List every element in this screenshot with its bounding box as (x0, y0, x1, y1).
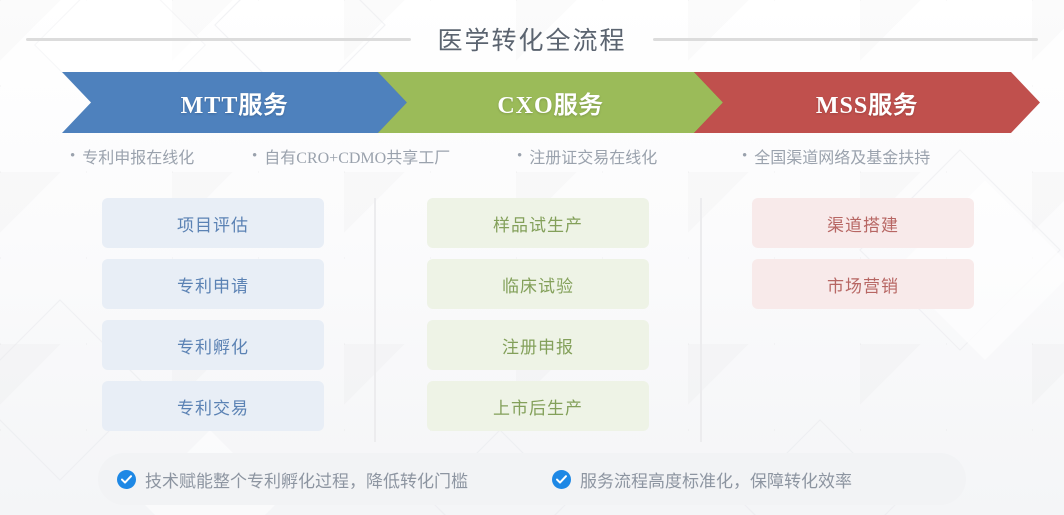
service-card[interactable]: 专利孵化 (102, 320, 324, 370)
service-card[interactable]: 注册申报 (427, 320, 649, 370)
footer-item-0: 技术赋能整个专利孵化过程，降低转化门槛 (117, 467, 468, 492)
footer-item-text-1: 服务流程高度标准化，保障转化效率 (580, 467, 852, 492)
service-card[interactable]: 项目评估 (102, 198, 324, 248)
service-card[interactable]: 专利交易 (102, 381, 324, 431)
stage-arrow-cxo[interactable]: CXO服务 (378, 72, 723, 133)
page-title: 医学转化全流程 (437, 21, 626, 57)
service-card[interactable]: 专利申请 (102, 259, 324, 309)
bullet-dot-icon: • (742, 149, 747, 164)
highlight-bullet-2: • 注册证交易在线化 (517, 140, 657, 172)
service-card[interactable]: 上市后生产 (427, 381, 649, 431)
bullet-dot-icon: • (70, 149, 75, 164)
highlight-bullet-1: • 自有CRO+CDMO共享工厂 (252, 140, 450, 172)
highlight-bullet-0: • 专利申报在线化 (70, 140, 194, 172)
column-divider-1 (374, 198, 376, 442)
check-circle-icon (552, 470, 571, 489)
highlight-bullet-text-0: 专利申报在线化 (82, 144, 194, 168)
stage-label-mtt: MTT服务 (181, 85, 289, 120)
service-card[interactable]: 市场营销 (752, 259, 974, 309)
service-card[interactable]: 临床试验 (427, 259, 649, 309)
highlight-bullet-text-1: 自有CRO+CDMO共享工厂 (264, 144, 450, 168)
service-column-mtt: 项目评估 专利申请 专利孵化 专利交易 (102, 198, 324, 442)
highlight-bullet-row: • 专利申报在线化 • 自有CRO+CDMO共享工厂 • 注册证交易在线化 • … (62, 140, 1040, 172)
stage-label-cxo: CXO服务 (497, 85, 603, 120)
service-column-mss: 渠道搭建 市场营销 (752, 198, 974, 320)
bullet-dot-icon: • (252, 149, 257, 164)
stage-label-mss: MSS服务 (816, 85, 918, 120)
service-column-cxo: 样品试生产 临床试验 注册申报 上市后生产 (427, 198, 649, 442)
highlight-bullet-text-2: 注册证交易在线化 (529, 144, 657, 168)
highlight-bullet-3: • 全国渠道网络及基金扶持 (742, 140, 930, 172)
title-rule-right (653, 38, 1038, 41)
service-card[interactable]: 渠道搭建 (752, 198, 974, 248)
service-card[interactable]: 样品试生产 (427, 198, 649, 248)
footer-panel: 技术赋能整个专利孵化过程，降低转化门槛 服务流程高度标准化，保障转化效率 (98, 453, 966, 505)
column-divider-2 (700, 198, 702, 442)
footer-item-text-0: 技术赋能整个专利孵化过程，降低转化门槛 (145, 467, 468, 492)
stage-arrow-mss[interactable]: MSS服务 (694, 72, 1040, 133)
title-rule-left (26, 38, 411, 41)
check-circle-icon (117, 470, 136, 489)
highlight-bullet-text-3: 全国渠道网络及基金扶持 (754, 144, 930, 168)
bullet-dot-icon: • (517, 149, 522, 164)
footer-item-1: 服务流程高度标准化，保障转化效率 (552, 467, 852, 492)
stage-arrow-mtt[interactable]: MTT服务 (62, 72, 407, 133)
stage-arrow-banner: MTT服务 CXO服务 MSS服务 (62, 72, 1040, 133)
page-title-row: 医学转化全流程 (0, 18, 1064, 60)
